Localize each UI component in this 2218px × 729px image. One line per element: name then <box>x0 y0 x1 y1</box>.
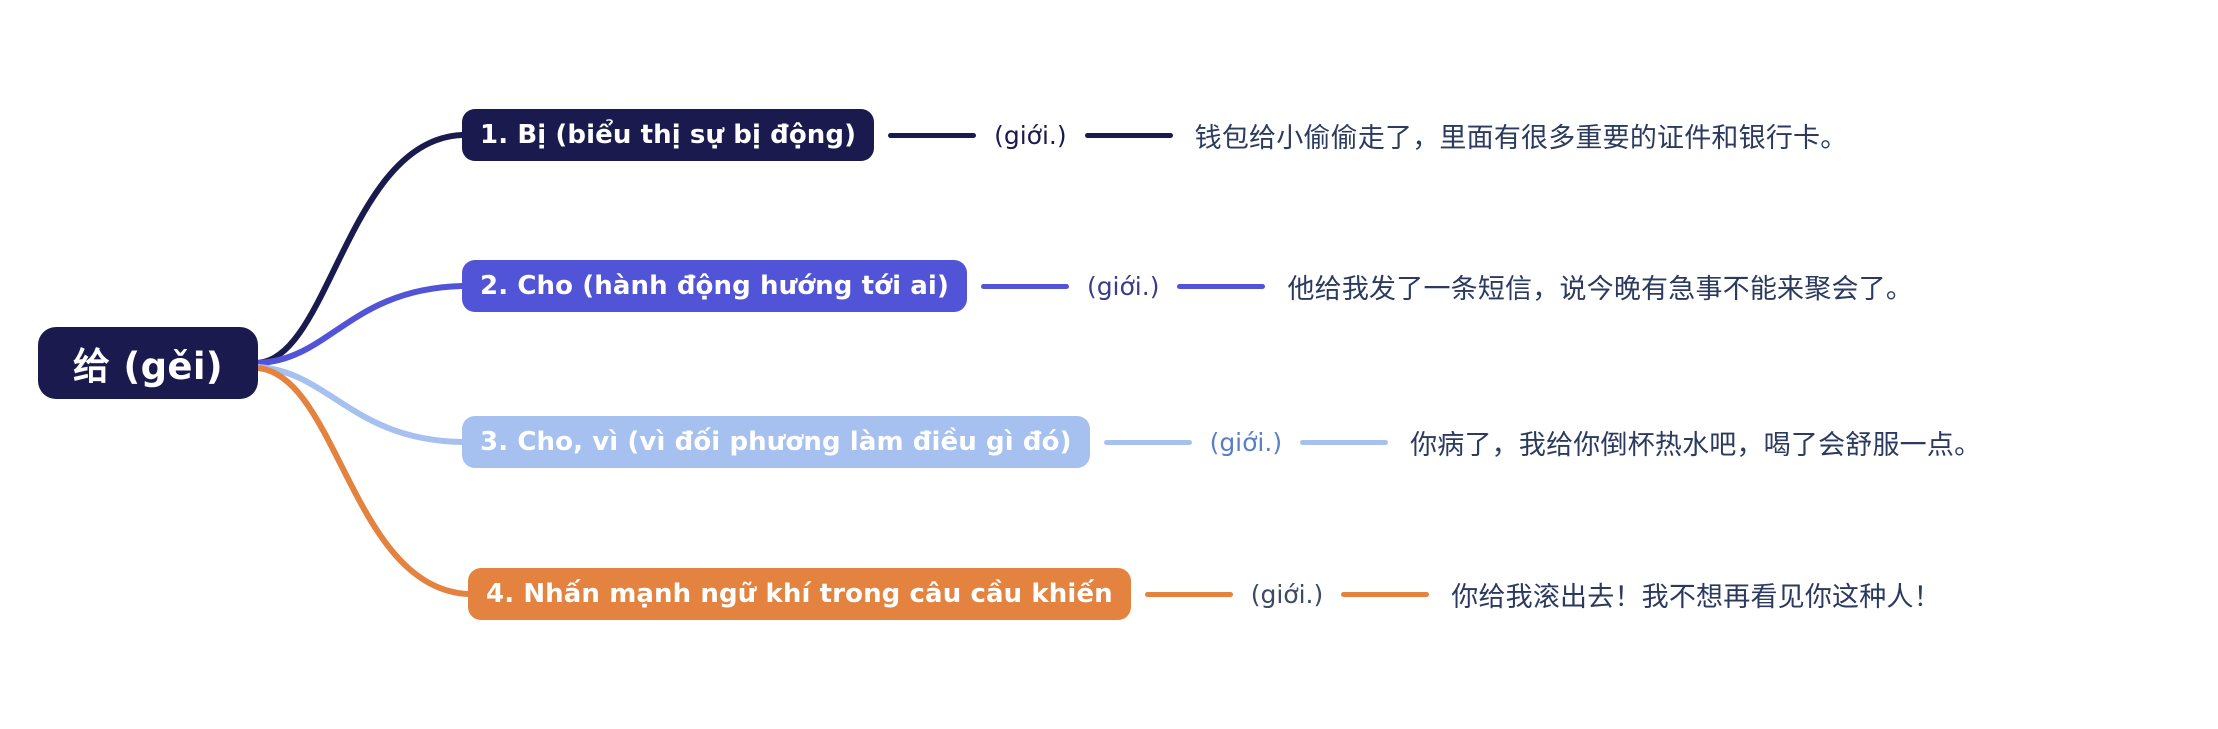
pos-label-1: (giới.) <box>994 121 1067 150</box>
curve-to-branch-1 <box>258 135 462 363</box>
connector-pos-to-example-4 <box>1341 592 1429 597</box>
pos-label-4: (giới.) <box>1251 580 1324 609</box>
branch-node-4-label: 4. Nhấn mạnh ngữ khí trong câu cầu khiến <box>486 579 1113 609</box>
curve-to-branch-2 <box>258 286 462 363</box>
connector-node-to-pos-1 <box>888 133 976 138</box>
branch-node-4[interactable]: 4. Nhấn mạnh ngữ khí trong câu cầu khiến <box>468 568 1131 620</box>
connector-node-to-pos-2 <box>981 284 1069 289</box>
curve-to-branch-4 <box>258 368 468 594</box>
example-sentence-1: 钱包给小偷偷走了，里面有很多重要的证件和银行卡。 <box>1195 116 1848 155</box>
branch-node-2-label: 2. Cho (hành động hướng tới ai) <box>480 271 949 301</box>
branch-row-2: 2. Cho (hành động hướng tới ai) (giới.) … <box>462 256 1913 316</box>
root-node-label: 给 (gěi) <box>73 336 223 390</box>
example-sentence-4: 你给我滚出去！我不想再看见你这种人！ <box>1451 575 1941 614</box>
pos-label-3: (giới.) <box>1210 428 1283 457</box>
connector-pos-to-example-2 <box>1177 284 1265 289</box>
root-node[interactable]: 给 (gěi) <box>38 327 258 399</box>
example-sentence-2: 他给我发了一条短信，说今晚有急事不能来聚会了。 <box>1287 267 1913 306</box>
branch-node-1-label: 1. Bị (biểu thị sự bị động) <box>480 120 856 150</box>
curve-to-branch-3 <box>258 367 462 442</box>
mindmap-canvas: 给 (gěi) 1. Bị (biểu thị sự bị động) (giớ… <box>0 0 2218 729</box>
branch-row-1: 1. Bị (biểu thị sự bị động) (giới.) 钱包给小… <box>462 105 1847 165</box>
example-sentence-3: 你病了，我给你倒杯热水吧，喝了会舒服一点。 <box>1410 423 1981 462</box>
connector-pos-to-example-3 <box>1300 440 1388 445</box>
connector-node-to-pos-4 <box>1145 592 1233 597</box>
connector-node-to-pos-3 <box>1104 440 1192 445</box>
pos-label-2: (giới.) <box>1087 272 1160 301</box>
branch-row-3: 3. Cho, vì (vì đối phương làm điều gì đó… <box>462 412 1981 472</box>
branch-node-2[interactable]: 2. Cho (hành động hướng tới ai) <box>462 260 967 312</box>
branch-node-3[interactable]: 3. Cho, vì (vì đối phương làm điều gì đó… <box>462 416 1090 468</box>
branch-node-1[interactable]: 1. Bị (biểu thị sự bị động) <box>462 109 874 161</box>
branch-row-4: 4. Nhấn mạnh ngữ khí trong câu cầu khiến… <box>468 564 1941 624</box>
branch-node-3-label: 3. Cho, vì (vì đối phương làm điều gì đó… <box>480 427 1072 457</box>
connector-pos-to-example-1 <box>1085 133 1173 138</box>
